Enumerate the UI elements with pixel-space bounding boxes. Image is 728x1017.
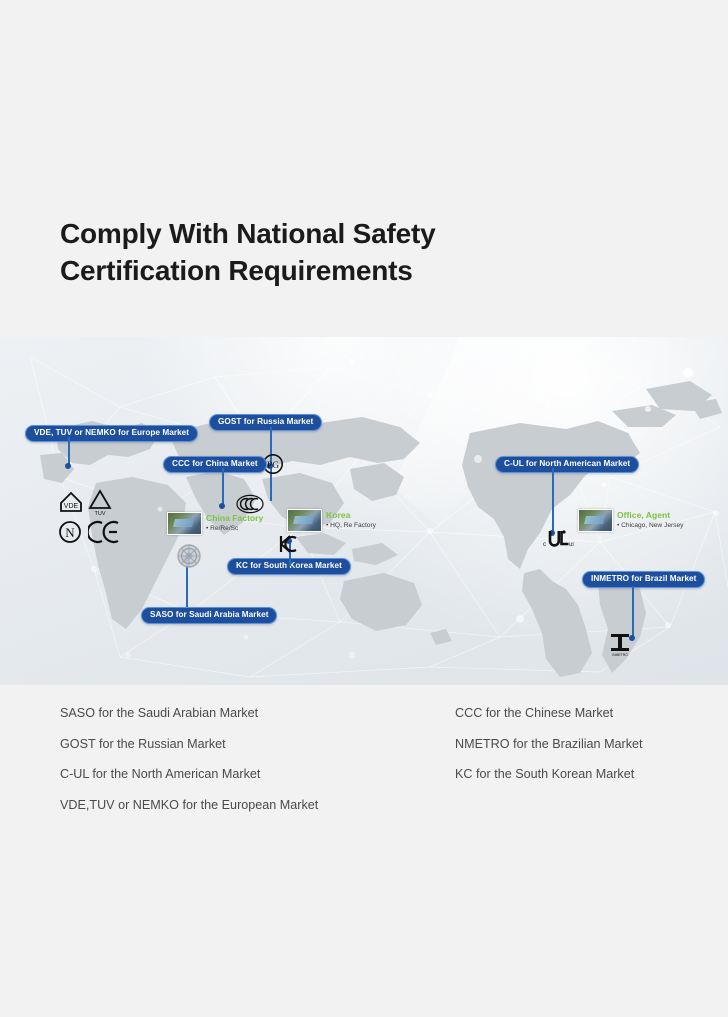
- leader-china: [222, 468, 224, 507]
- list-item: GOST for the Russian Market: [60, 738, 318, 751]
- license-list-right: CCC for the Chinese Market NMETRO for th…: [455, 707, 643, 799]
- inmetro-icon: INMETRO: [608, 631, 632, 657]
- site-china-factory: China Factory • Re/Re/Sc: [167, 512, 263, 535]
- svg-text:c: c: [543, 542, 546, 548]
- office-agent-text: Office, Agent • Chicago, New Jersey: [617, 509, 683, 529]
- svg-text:us: us: [569, 542, 574, 548]
- korea-sub: • HQ, Re Factory: [326, 522, 376, 530]
- callout-saudi-arabia[interactable]: SASO for Saudi Arabia Market: [141, 607, 277, 624]
- svg-text:VDE: VDE: [64, 503, 79, 510]
- page-root: Comply With National Safety Certificatio…: [0, 0, 728, 1017]
- ce-mark-icon: [88, 520, 120, 544]
- kc-icon: [277, 533, 299, 555]
- korea-photo: [287, 509, 322, 532]
- tuv-icon: TUV: [88, 488, 112, 516]
- list-item: CCC for the Chinese Market: [455, 707, 643, 720]
- callout-north-america[interactable]: C-UL for North American Market: [495, 456, 639, 473]
- vde-icon: VDE: [58, 490, 84, 516]
- list-item: NMETRO for the Brazilian Market: [455, 738, 643, 751]
- list-item: C-UL for the North American Market: [60, 768, 318, 781]
- china-factory-photo: [167, 512, 202, 535]
- china-factory-text: China Factory • Re/Re/Sc: [206, 512, 263, 532]
- china-factory-name: China Factory: [206, 513, 263, 523]
- dot-europe: [65, 463, 71, 469]
- leader-north-america: [552, 468, 554, 534]
- korea-text: Korea • HQ, Re Factory: [326, 509, 376, 529]
- svg-text:INMETRO: INMETRO: [612, 653, 628, 657]
- dot-china: [219, 503, 225, 509]
- list-item: VDE,TUV or NEMKO for the European Market: [60, 799, 318, 812]
- svg-text:TUV: TUV: [95, 511, 106, 516]
- site-korea: Korea • HQ, Re Factory: [287, 509, 376, 532]
- svg-text:PG: PG: [267, 461, 279, 471]
- ul-listed-icon: c us: [540, 527, 574, 549]
- site-office-agent: Office, Agent • Chicago, New Jersey: [578, 509, 683, 532]
- office-agent-photo: [578, 509, 613, 532]
- license-list-left: SASO for the Saudi Arabian Market GOST f…: [60, 707, 318, 829]
- saso-icon: [176, 543, 202, 569]
- callout-brazil[interactable]: INMETRO for Brazil Market: [582, 571, 705, 588]
- page-title: Comply With National Safety Certificatio…: [60, 216, 620, 290]
- page-title-line-1: Comply With National Safety: [60, 216, 620, 253]
- nemko-icon: N: [58, 520, 82, 544]
- svg-text:N: N: [65, 525, 75, 540]
- china-factory-sub: • Re/Re/Sc: [206, 525, 263, 533]
- ccc-icon: [236, 494, 264, 514]
- callout-europe[interactable]: VDE, TUV or NEMKO for Europe Market: [25, 425, 198, 442]
- page-title-line-2: Certification Requirements: [60, 253, 620, 290]
- office-agent-sub: • Chicago, New Jersey: [617, 522, 683, 530]
- callout-china[interactable]: CCC for China Market: [163, 456, 267, 473]
- world-map-panel: APPROVED LICENSES VDE, TUV or NEMKO for …: [0, 337, 728, 685]
- leader-brazil: [632, 586, 634, 638]
- list-item: KC for the South Korean Market: [455, 768, 643, 781]
- office-agent-name: Office, Agent: [617, 510, 683, 520]
- korea-name: Korea: [326, 510, 376, 520]
- callout-russia[interactable]: GOST for Russia Market: [209, 414, 322, 431]
- list-item: SASO for the Saudi Arabian Market: [60, 707, 318, 720]
